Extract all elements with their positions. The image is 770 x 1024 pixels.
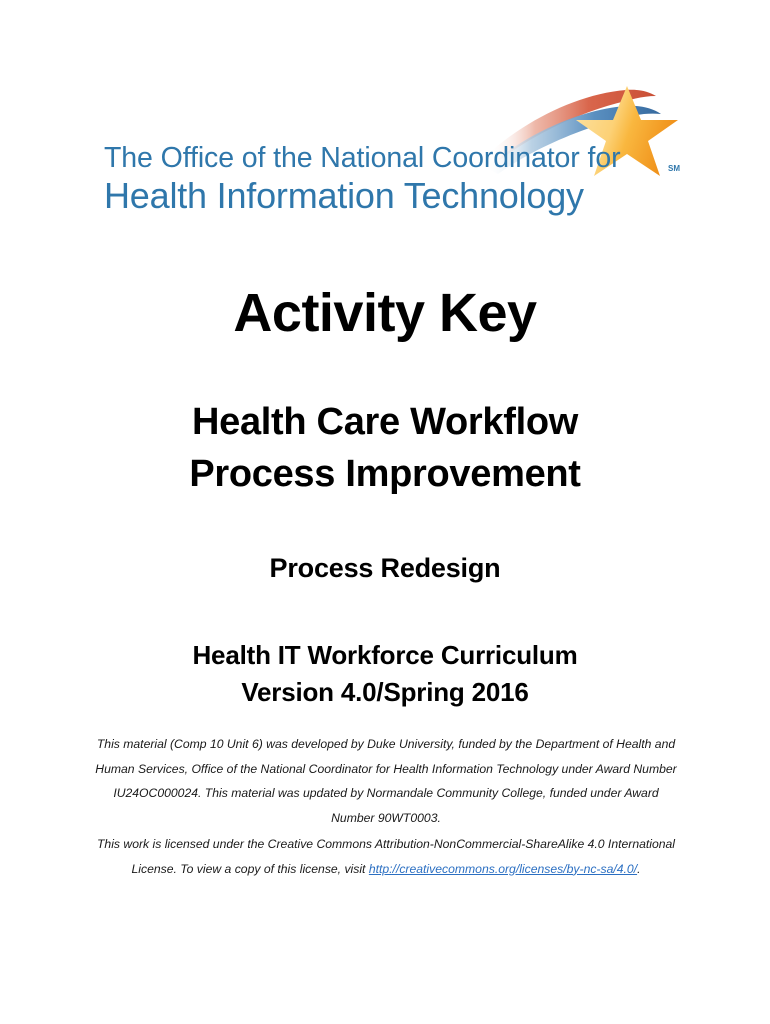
- curriculum-name: Health IT Workforce Curriculum: [0, 637, 770, 674]
- license-statement: This work is licensed under the Creative…: [92, 832, 680, 881]
- onc-logo: SM The Office of the National Coordinato…: [96, 84, 686, 234]
- onc-logo-line-1: The Office of the National Coordinator f…: [104, 142, 624, 175]
- onc-logo-text: The Office of the National Coordinator f…: [104, 142, 624, 216]
- lesson-title: Process Redesign: [0, 549, 770, 587]
- page-title: Activity Key: [0, 282, 770, 344]
- document-page: SM The Office of the National Coordinato…: [0, 0, 770, 1024]
- course-subtitle-line-1: Health Care Workflow: [0, 396, 770, 448]
- course-subtitle-line-2: Process Improvement: [0, 448, 770, 500]
- onc-logo-line-2: Health Information Technology: [104, 175, 624, 216]
- curriculum-version-number: Version 4.0/Spring 2016: [0, 674, 770, 711]
- funding-statement: This material (Comp 10 Unit 6) was devel…: [92, 732, 680, 830]
- service-mark-label: SM: [668, 164, 680, 173]
- curriculum-version: Health IT Workforce Curriculum Version 4…: [0, 637, 770, 711]
- creative-commons-license-link[interactable]: http://creativecommons.org/licenses/by-n…: [369, 862, 637, 876]
- course-subtitle: Health Care Workflow Process Improvement: [0, 396, 770, 500]
- license-text-suffix: .: [637, 862, 640, 876]
